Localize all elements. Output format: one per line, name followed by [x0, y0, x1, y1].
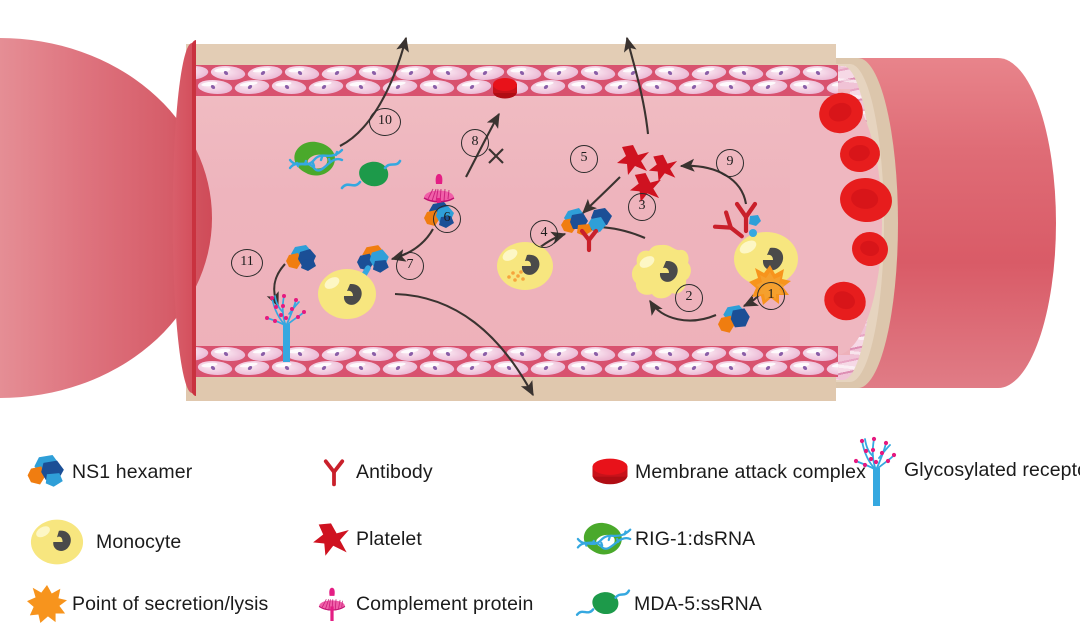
step-marker-5[interactable]: 5 — [570, 145, 598, 173]
monocyte-icon — [18, 516, 96, 568]
legend-item-mda5-ssrna[interactable]: MDA-5:ssRNA — [572, 584, 762, 624]
glycosylated-receptor-icon — [848, 428, 904, 512]
legend-label: Platelet — [356, 528, 422, 551]
blocked-marker — [489, 149, 503, 163]
legend-item-platelet[interactable]: Platelet — [306, 518, 422, 560]
step-marker-8[interactable]: 8 — [461, 129, 489, 157]
membrane-attack-complex-icon — [490, 76, 520, 102]
ns1-antibody-complex — [562, 206, 620, 258]
blood-vessel-illustration: 1234567891011 — [0, 14, 1080, 402]
glycosylated-receptor-icon — [262, 290, 310, 362]
ns1-fragment — [744, 214, 766, 240]
legend-item-complement-protein[interactable]: Complement protein — [308, 580, 533, 628]
complement-protein-icon — [308, 580, 356, 628]
legend-label: Complement protein — [356, 593, 533, 616]
step-marker-11[interactable]: 11 — [231, 249, 263, 277]
step-marker-3[interactable]: 3 — [628, 193, 656, 221]
mda5-ssrna-icon — [572, 584, 634, 624]
mda5-ssrna-icon — [340, 156, 402, 194]
legend-item-secretion-lysis[interactable]: Point of secretion/lysis — [22, 582, 268, 626]
step-marker-2[interactable]: 2 — [675, 284, 703, 312]
legend-label: RIG-1:dsRNA — [635, 528, 755, 551]
pathway-arrows — [0, 14, 1080, 416]
step-marker-7[interactable]: 7 — [396, 252, 424, 280]
legend-item-glycosylated-receptor[interactable]: Glycosylated receptor — [848, 428, 1080, 512]
ns1-hexamer-icon — [286, 244, 320, 274]
step-marker-9[interactable]: 9 — [716, 149, 744, 177]
platelet-icon — [306, 518, 356, 560]
rig1-dsrna-icon — [575, 516, 635, 562]
monocyte-icon — [317, 267, 377, 321]
legend-label: NS1 hexamer — [72, 461, 192, 484]
ns1-hexamer-icon — [24, 452, 72, 492]
step-marker-6[interactable]: 6 — [433, 205, 461, 233]
legend: NS1 hexamer Monocyte Point of secretion/… — [0, 404, 1080, 632]
legend-item-rig1-dsrna[interactable]: RIG-1:dsRNA — [575, 516, 755, 562]
step-marker-1[interactable]: 1 — [757, 282, 785, 310]
step-marker-4[interactable]: 4 — [530, 220, 558, 248]
ns1-hexamer-icon — [718, 304, 754, 336]
rig1-dsrna-icon — [286, 138, 348, 180]
legend-item-membrane-attack-complex[interactable]: Membrane attack complex — [585, 454, 866, 490]
legend-item-ns1-hexamer[interactable]: NS1 hexamer — [24, 452, 192, 492]
legend-label: Membrane attack complex — [635, 461, 866, 484]
figure-root: 1234567891011 NS1 hexamer — [0, 0, 1080, 632]
legend-item-monocyte[interactable]: Monocyte — [18, 516, 181, 568]
legend-label: Glycosylated receptor — [904, 459, 1080, 482]
membrane-attack-complex-icon — [585, 454, 635, 490]
legend-label: MDA-5:ssRNA — [634, 593, 762, 616]
legend-label: Monocyte — [96, 531, 181, 554]
legend-label: Point of secretion/lysis — [72, 593, 268, 616]
legend-label: Antibody — [356, 461, 433, 484]
antibody-icon — [312, 452, 356, 492]
legend-item-antibody[interactable]: Antibody — [312, 452, 433, 492]
secretion-lysis-icon — [22, 582, 72, 626]
step-marker-10[interactable]: 10 — [369, 108, 401, 136]
antibody-icon — [712, 210, 748, 244]
